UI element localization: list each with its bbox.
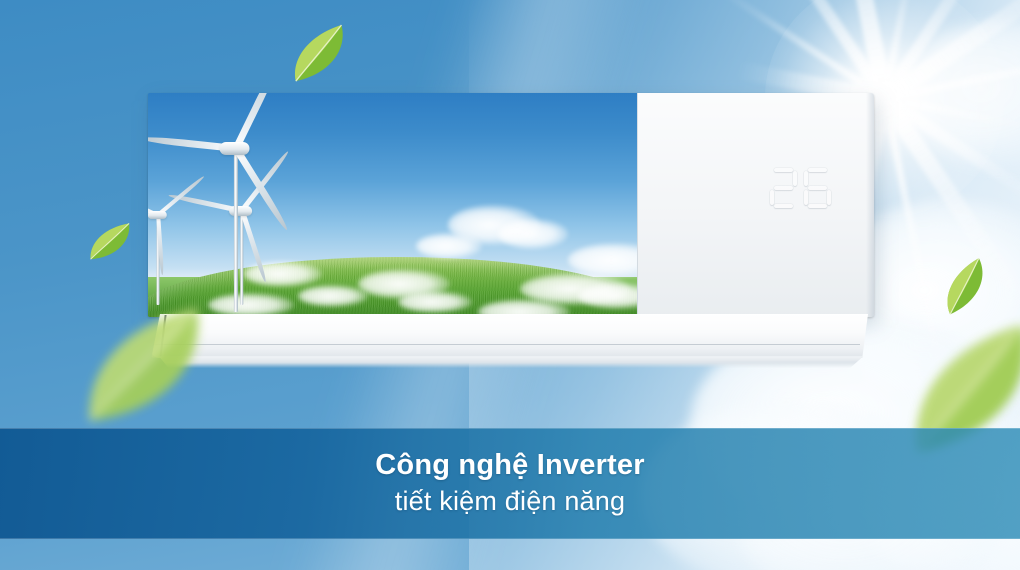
caption-line-1: Công nghệ Inverter	[375, 448, 644, 482]
air-conditioner-unit	[148, 93, 874, 317]
display-segment	[808, 186, 827, 190]
caption-banner: Công nghệ Inverter tiết kiệm điện năng	[0, 428, 1020, 539]
display-segment	[804, 171, 808, 186]
turbine-mast	[234, 152, 238, 312]
display-segment	[793, 171, 797, 186]
display-segment	[774, 186, 793, 190]
turbine-nacelle	[148, 211, 166, 219]
landscape-cloud	[498, 219, 568, 249]
temperature-display	[770, 168, 836, 208]
louver-edge	[150, 356, 868, 368]
display-digit	[804, 168, 831, 208]
unit-front-face	[148, 93, 874, 317]
air-louver	[150, 314, 868, 358]
unit-lower-body	[150, 314, 868, 370]
wind-farm-landscape-image	[148, 93, 637, 317]
landscape-sky	[148, 93, 637, 277]
landscape-cloud	[416, 233, 482, 259]
turbine-nacelle	[229, 206, 252, 216]
display-segment	[774, 168, 793, 172]
display-segment	[774, 204, 793, 208]
unit-white-panel	[637, 93, 874, 317]
turbine-nacelle	[220, 142, 250, 155]
caption-line-2: tiết kiệm điện năng	[395, 484, 625, 519]
display-segment	[808, 168, 827, 172]
display-segment	[770, 190, 774, 205]
turbine-mast	[240, 215, 243, 305]
promo-image: Công nghệ Inverter tiết kiệm điện năng	[0, 0, 1020, 570]
display-segment	[827, 190, 831, 205]
landscape-cloud	[398, 291, 472, 313]
display-digit	[770, 168, 797, 208]
landscape-cloud	[298, 285, 368, 307]
display-segment	[808, 204, 827, 208]
landscape-cloud	[244, 261, 322, 287]
display-segment	[804, 190, 808, 205]
